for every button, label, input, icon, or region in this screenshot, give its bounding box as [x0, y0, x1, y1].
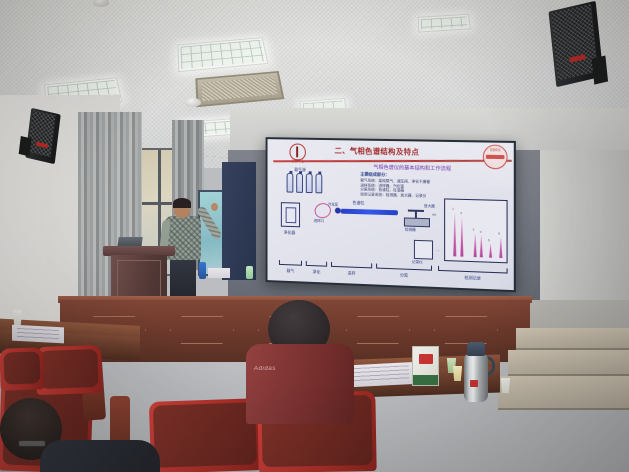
bracket-label: 进样 — [331, 270, 372, 278]
ledge-paper — [208, 268, 230, 278]
bracket-label: 检测记录 — [438, 274, 508, 283]
purifier-unit: 净化器 — [281, 202, 300, 227]
recorder-arrow-icon: → — [435, 248, 440, 254]
chromatography-column — [341, 209, 398, 216]
auditorium-seat-back-row[interactable] — [0, 347, 45, 391]
smoke-detector-back — [185, 98, 201, 107]
slide-title: 二、气相色谱结构及特点 — [296, 144, 459, 158]
right-wall-pillar — [540, 150, 629, 325]
peak-label: 4 — [480, 230, 482, 234]
peak-label: 5 — [488, 238, 490, 242]
injector-label: 进样口 — [314, 219, 324, 224]
wall-speaker-right — [548, 1, 603, 87]
purifier-label: 净化器 — [284, 230, 296, 236]
column-label: 色谱柱 — [352, 200, 364, 206]
stage-steps — [516, 300, 629, 410]
maroon-hoodie — [246, 344, 354, 424]
presenter-hand — [211, 203, 218, 211]
torso — [40, 440, 160, 472]
bracket-label: 载气 — [279, 268, 302, 275]
bracket-label: 分离 — [376, 272, 432, 280]
vaporizer-label: 汽化室 — [328, 201, 338, 206]
ceiling-light-far-right — [418, 14, 471, 33]
peak-label: 3 — [473, 228, 475, 232]
water-bottle — [199, 262, 206, 279]
seal-caption: 质量检验 — [490, 148, 501, 152]
auditorium-seat-back-row[interactable] — [35, 345, 103, 395]
audience-member-center: Adidas — [246, 300, 354, 420]
institution-seal-icon: 质量检验 — [483, 145, 508, 170]
peak-label: 1 — [452, 207, 454, 211]
hoodie-logo-text: Adidas — [254, 366, 276, 372]
recorder-unit — [414, 240, 433, 260]
amplifier-arrow-icon: ⇦ — [432, 212, 436, 218]
projection-screen: 分析中心 二、气相色谱结构及特点 气相色谱仪的基本结构和工作流程 质量检验 主要… — [266, 137, 516, 292]
audience-member-bottom-left — [40, 440, 160, 472]
wall-speaker-left — [25, 108, 60, 164]
lecture-hall-photo: 分析中心 二、气相色谱结构及特点 气相色谱仪的基本结构和工作流程 质量检验 主要… — [0, 0, 629, 472]
title-divider — [273, 160, 511, 162]
amplifier-label: 放大器 — [424, 204, 435, 209]
stage-panel-diamond — [170, 316, 234, 344]
stage-panel-diamond — [346, 316, 410, 344]
slide-bullet-list: 主要组成部分： 载气系统：高纯载气、减压阀、净化干燥管 进样系统：进样器、汽化室… — [360, 171, 480, 199]
handout-paper-left — [12, 325, 64, 344]
chromatogram-peaks: 1 2 3 4 5 6 — [449, 208, 504, 258]
water-bottle-green — [246, 266, 253, 279]
slide-content: 分析中心 二、气相色谱结构及特点 气相色谱仪的基本结构和工作流程 质量检验 主要… — [268, 139, 514, 290]
bracket-label: 净化 — [306, 269, 327, 276]
tea-box — [412, 346, 439, 386]
detector-label: 检测器 — [405, 228, 416, 233]
vacuum-thermos — [462, 340, 490, 402]
chromatogram-chart: 1 2 3 4 5 6 — [444, 198, 507, 263]
thermos-badge — [470, 380, 478, 387]
peak-label: 6 — [498, 231, 500, 235]
detector-unit — [404, 217, 430, 227]
peak-label: 2 — [460, 211, 462, 215]
blue-cabinet — [222, 162, 256, 280]
auditorium-seat[interactable] — [149, 398, 261, 472]
